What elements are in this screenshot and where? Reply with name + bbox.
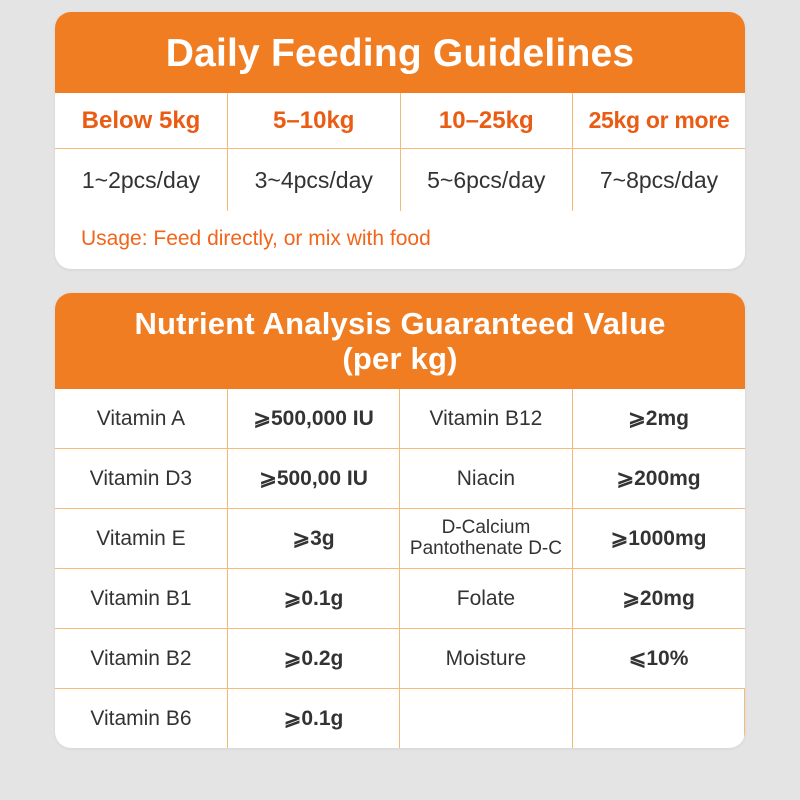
nutrient-name-cell: Moisture [400,629,572,689]
infographic-page: Daily Feeding Guidelines Below 5kg 5–10k… [0,0,800,800]
nutrient-name-cell: Vitamin B12 [400,389,572,449]
feeding-guidelines-card: Daily Feeding Guidelines Below 5kg 5–10k… [55,12,745,269]
weight-range-cell-2: 5–10kg [228,93,401,149]
weight-range-cell-1: Below 5kg [55,93,228,149]
nutrient-value-cell: ⩾3g [227,509,399,569]
usage-note: Usage: Feed directly, or mix with food [55,211,745,269]
nutrient-title-line-1: Nutrient Analysis Guaranteed Value [134,306,665,341]
nutrient-analysis-title: Nutrient Analysis Guaranteed Value (per … [55,293,745,389]
weight-range-cell-3: 10–25kg [400,93,573,149]
feeding-guidelines-table: Below 5kg 5–10kg 10–25kg 25kg or more 1~… [55,93,745,211]
table-row: Vitamin B2 ⩾0.2g Moisture ⩽10% [55,629,745,689]
table-row: Vitamin B1 ⩾0.1g Folate ⩾20mg [55,569,745,629]
nutrient-name-cell-empty [400,689,572,749]
feeding-guidelines-title: Daily Feeding Guidelines [55,12,745,93]
nutrient-name-cell: Vitamin B2 [55,629,227,689]
nutrient-name-cell: Vitamin D3 [55,449,227,509]
dosage-cell-4: 7~8pcs/day [573,149,746,212]
table-row-weight-ranges: Below 5kg 5–10kg 10–25kg 25kg or more [55,93,745,149]
nutrient-name-cell: Folate [400,569,572,629]
nutrient-name-cell: Vitamin B1 [55,569,227,629]
nutrient-title-line-2: (per kg) [55,342,745,377]
nutrient-analysis-card: Nutrient Analysis Guaranteed Value (per … [55,293,745,748]
nutrient-value-cell: ⩾1000mg [572,509,744,569]
nutrient-value-cell: ⩾20mg [572,569,744,629]
table-row: Vitamin D3 ⩾500,00 IU Niacin ⩾200mg [55,449,745,509]
table-row: Vitamin A ⩾500,000 IU Vitamin B12 ⩾2mg [55,389,745,449]
nutrient-value-cell: ⩽10% [572,629,744,689]
nutrient-name-cell: Vitamin B6 [55,689,227,749]
table-row-dosages: 1~2pcs/day 3~4pcs/day 5~6pcs/day 7~8pcs/… [55,149,745,212]
dosage-cell-2: 3~4pcs/day [228,149,401,212]
nutrient-name-cell: Niacin [400,449,572,509]
dosage-cell-1: 1~2pcs/day [55,149,228,212]
nutrient-value-cell: ⩾0.1g [227,569,399,629]
nutrient-name-cell: Vitamin E [55,509,227,569]
weight-range-cell-4: 25kg or more [573,93,746,149]
nutrient-value-cell-empty [572,689,744,749]
card-spacer [55,269,745,293]
nutrient-name-cell: D-Calcium Pantothenate D-C [400,509,572,569]
table-row: Vitamin B6 ⩾0.1g [55,689,745,749]
nutrient-value-cell: ⩾0.2g [227,629,399,689]
table-row: Vitamin E ⩾3g D-Calcium Pantothenate D-C… [55,509,745,569]
nutrient-value-cell: ⩾500,000 IU [227,389,399,449]
nutrient-name-cell: Vitamin A [55,389,227,449]
nutrient-value-cell: ⩾200mg [572,449,744,509]
nutrient-value-cell: ⩾2mg [572,389,744,449]
nutrient-value-cell: ⩾0.1g [227,689,399,749]
dosage-cell-3: 5~6pcs/day [400,149,573,212]
nutrient-analysis-table: Vitamin A ⩾500,000 IU Vitamin B12 ⩾2mg V… [55,389,745,748]
nutrient-value-cell: ⩾500,00 IU [227,449,399,509]
